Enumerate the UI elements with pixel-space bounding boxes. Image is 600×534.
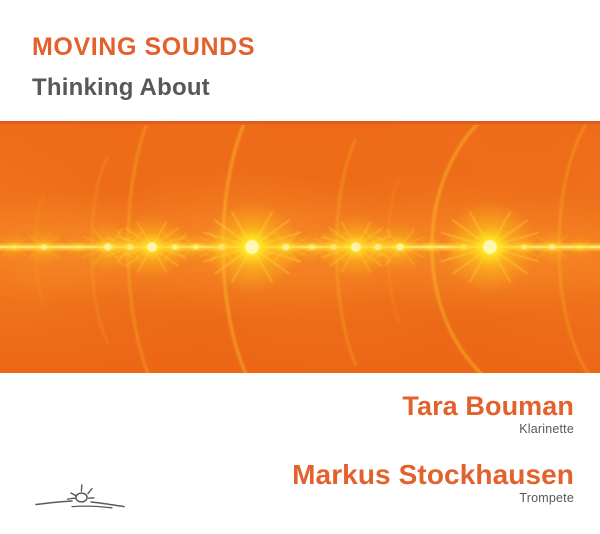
sunrise-logo — [34, 472, 130, 518]
sunrise-icon — [34, 472, 130, 518]
performer-instrument: Trompete — [154, 492, 574, 506]
performer-entry: Markus Stockhausen Trompete — [154, 460, 574, 506]
page-title: MOVING SOUNDS — [32, 35, 255, 60]
album-subtitle: Thinking About — [32, 76, 210, 100]
performer-name: Tara Bouman — [154, 392, 574, 420]
artwork-panel — [0, 121, 600, 373]
credits-block: Tara Bouman Klarinette Markus Stockhause… — [154, 392, 574, 506]
album-cover: MOVING SOUNDS Thinking About — [0, 0, 600, 534]
performer-entry: Tara Bouman Klarinette — [154, 392, 574, 437]
fractal-starburst-artwork — [0, 121, 600, 373]
performer-name: Markus Stockhausen — [154, 460, 574, 489]
header-block: MOVING SOUNDS Thinking About — [0, 0, 600, 121]
performer-instrument: Klarinette — [154, 423, 574, 437]
